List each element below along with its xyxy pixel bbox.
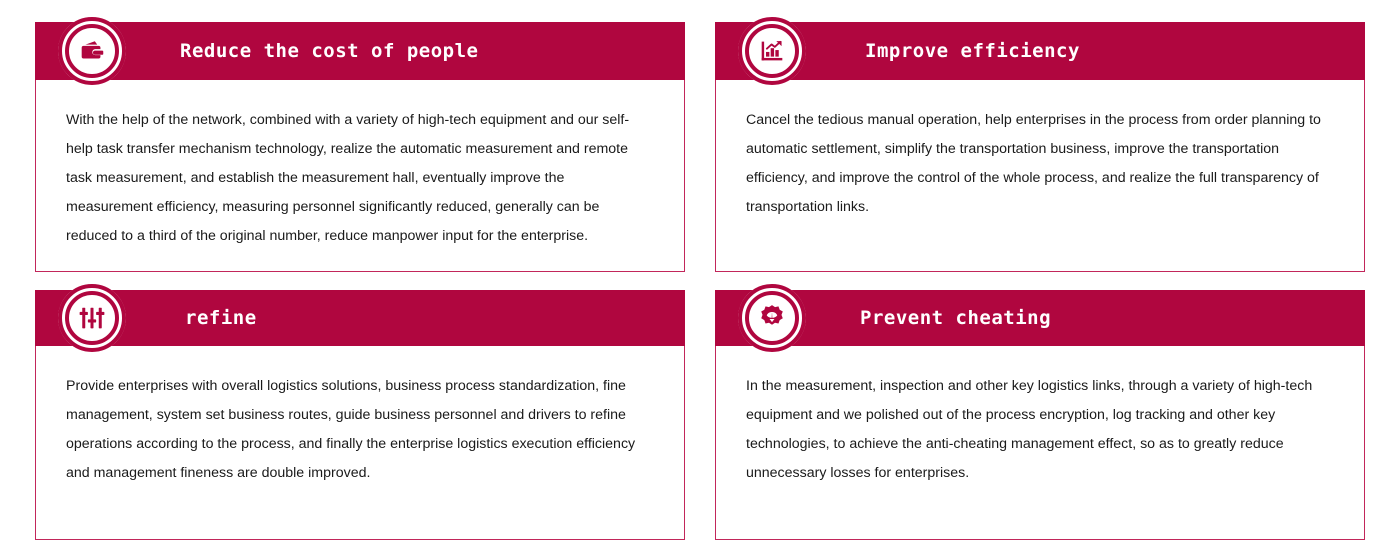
card-body: In the measurement, inspection and other… xyxy=(715,346,1365,540)
card-body: Provide enterprises with overall logisti… xyxy=(35,346,685,540)
benefit-card-refine: refine Provide enterprises with overall … xyxy=(35,290,685,540)
wallet-icon xyxy=(58,17,126,85)
card-title: Prevent cheating xyxy=(860,307,1051,329)
card-title: Reduce the cost of people xyxy=(180,40,478,62)
card-title: Improve efficiency xyxy=(865,40,1080,62)
card-header: Improve efficiency xyxy=(715,22,1365,80)
card-title: refine xyxy=(185,307,257,329)
sliders-settings-icon xyxy=(58,284,126,352)
benefit-card-reduce-cost-of-people: Reduce the cost of people With the help … xyxy=(35,22,685,272)
benefits-card-board: Reduce the cost of people With the help … xyxy=(0,0,1380,560)
benefits-card-grid: Reduce the cost of people With the help … xyxy=(0,0,1380,560)
benefit-card-improve-efficiency: Improve efficiency Cancel the tedious ma… xyxy=(715,22,1365,272)
card-description: With the help of the network, combined w… xyxy=(66,106,654,251)
security-shield-gear-icon xyxy=(738,284,806,352)
card-description: Cancel the tedious manual operation, hel… xyxy=(746,106,1334,222)
card-header: Reduce the cost of people xyxy=(35,22,685,80)
card-body: With the help of the network, combined w… xyxy=(35,80,685,272)
card-body: Cancel the tedious manual operation, hel… xyxy=(715,80,1365,272)
card-description: In the measurement, inspection and other… xyxy=(746,372,1334,488)
card-header: refine xyxy=(35,290,685,346)
bar-chart-growth-icon xyxy=(738,17,806,85)
card-description: Provide enterprises with overall logisti… xyxy=(66,372,654,488)
card-header: Prevent cheating xyxy=(715,290,1365,346)
benefit-card-prevent-cheating: Prevent cheating In the measurement, ins… xyxy=(715,290,1365,540)
